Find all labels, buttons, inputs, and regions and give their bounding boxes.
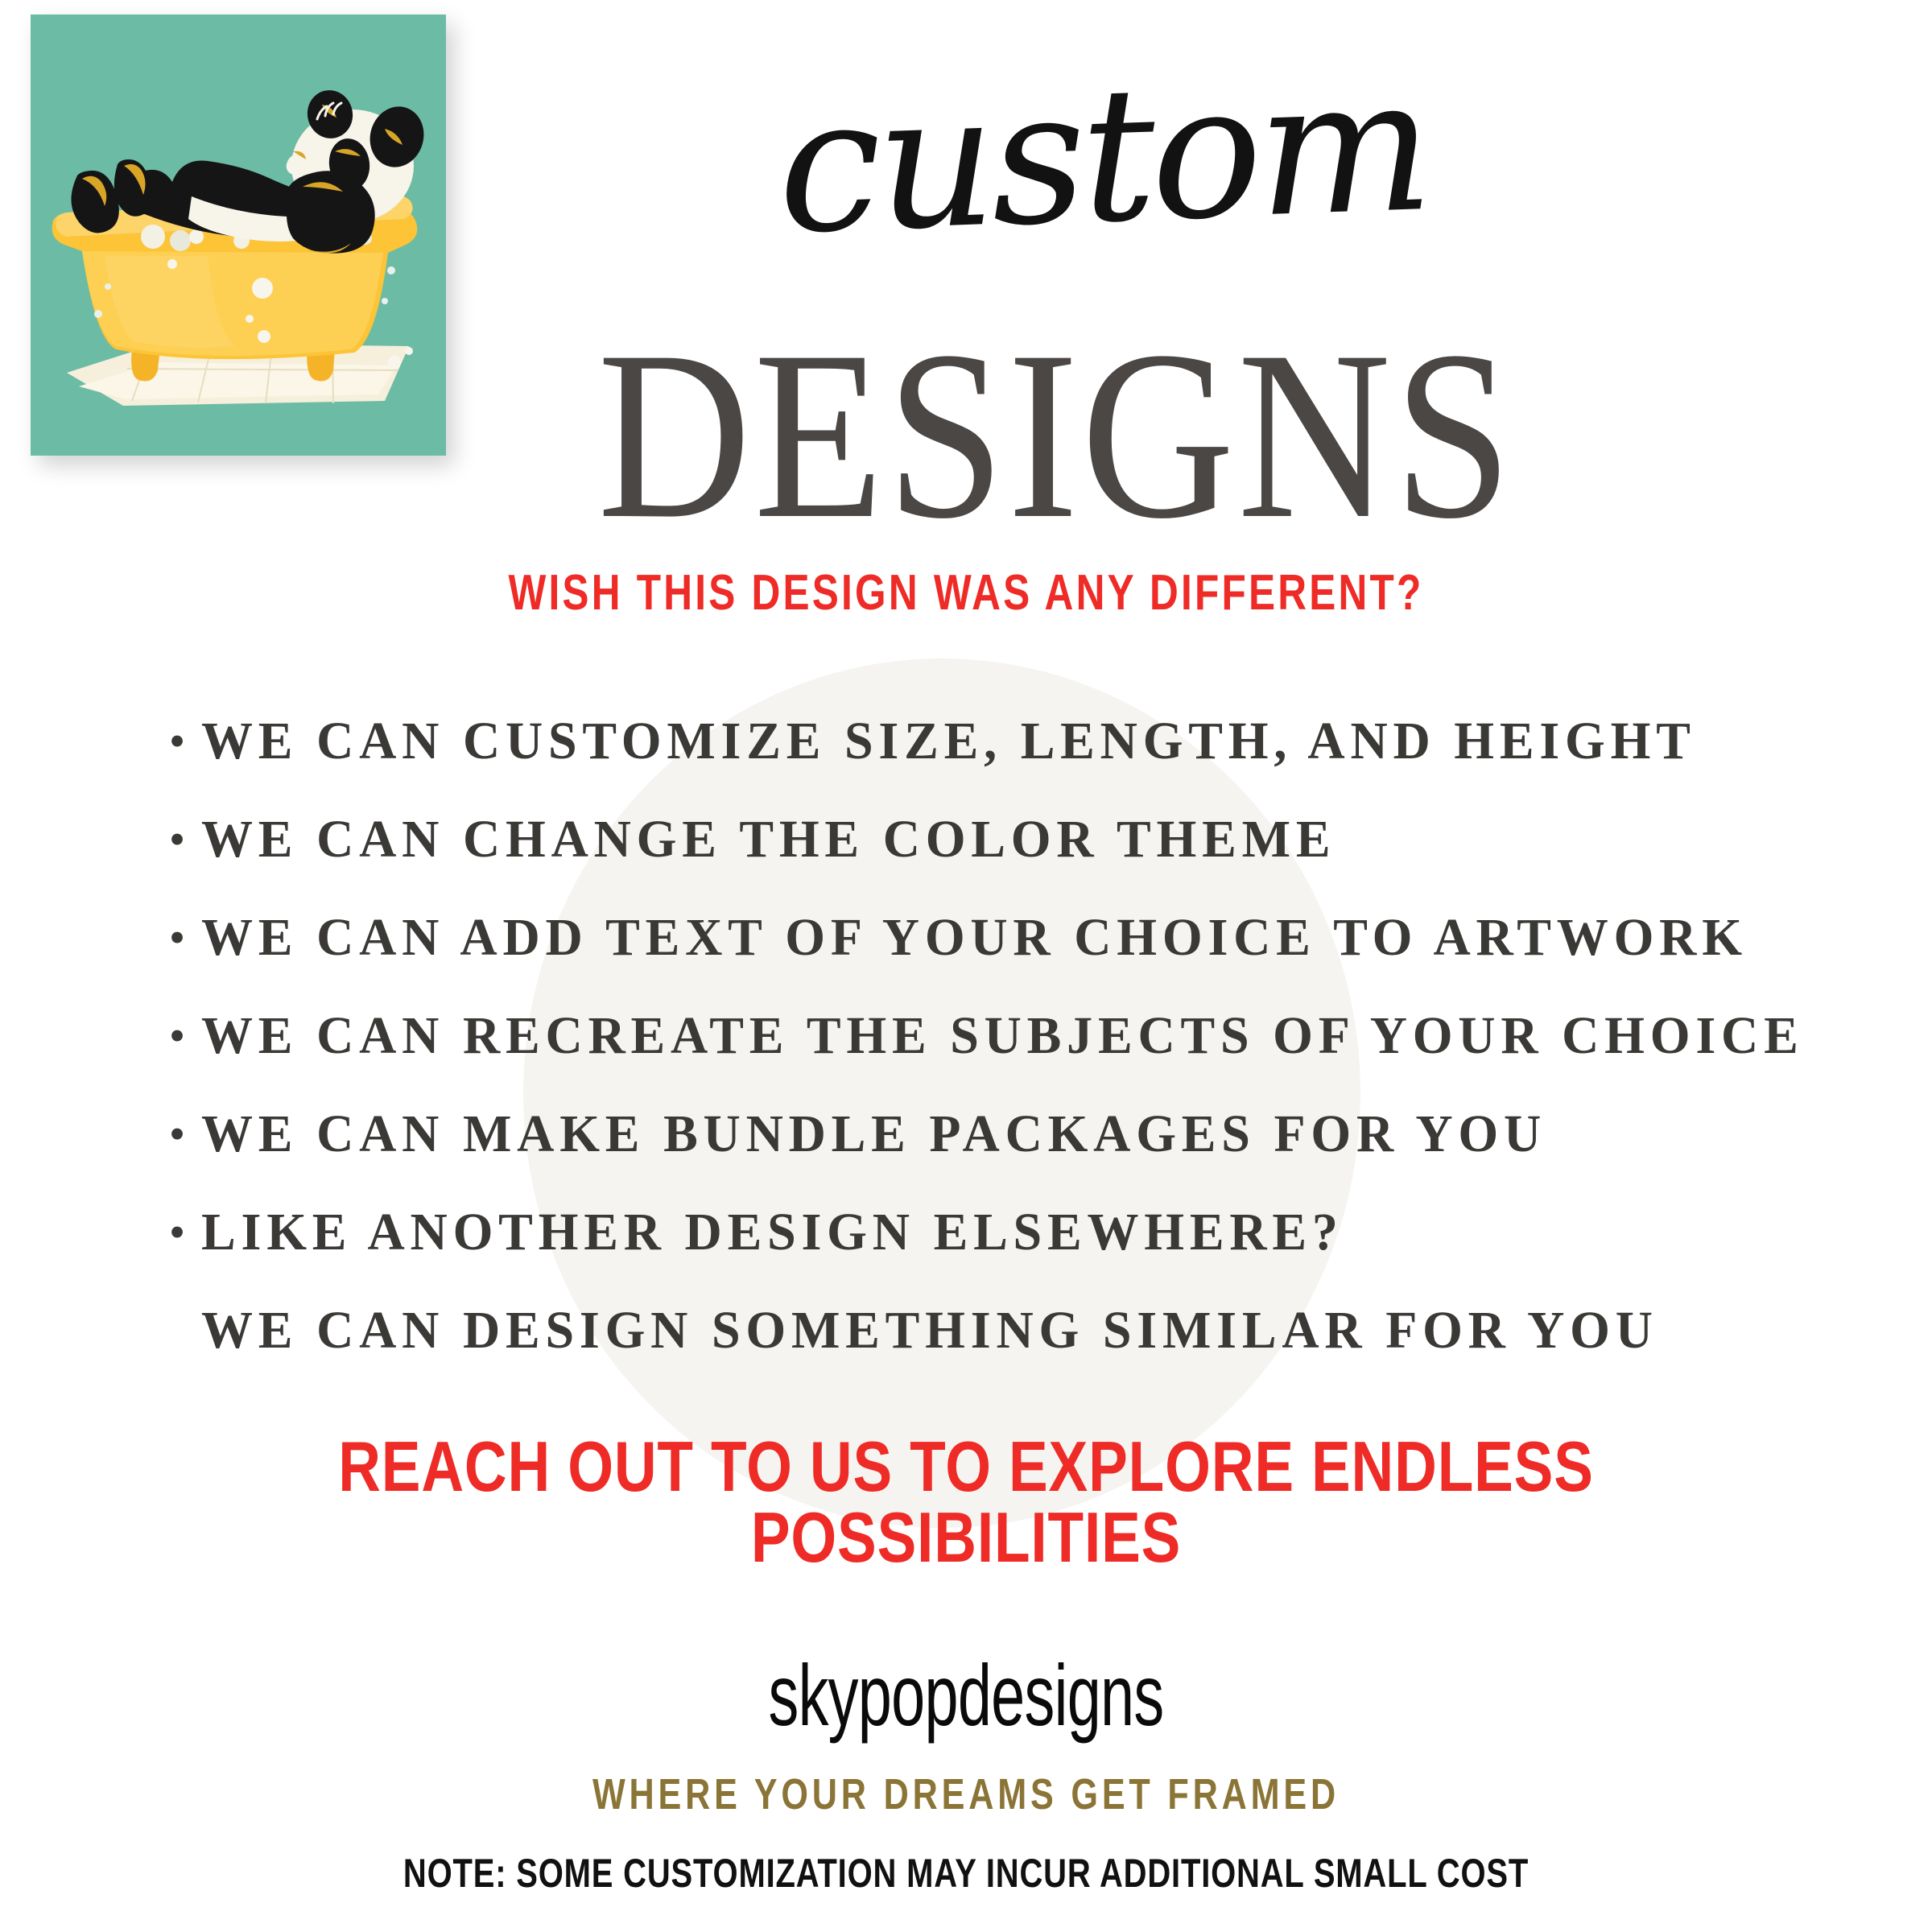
- call-to-action-text: REACH OUT TO US TO EXPLORE ENDLESS POSSI…: [164, 1431, 1768, 1573]
- brand-wordmark: skypopdesigns: [290, 1652, 1642, 1739]
- list-item: • LIKE ANOTHER DESIGN ELSEWHERE?: [153, 1183, 1843, 1282]
- bullet-dot-icon: •: [153, 692, 201, 791]
- bullet-dot-icon: •: [153, 889, 201, 987]
- bullet-label: WE CAN CHANGE THE COLOR THEME: [201, 791, 1335, 889]
- bullet-dot-icon: •: [153, 1183, 201, 1282]
- bullet-dot-icon: •: [153, 791, 201, 889]
- list-item: • WE CAN CUSTOMIZE SIZE, LENGTH, AND HEI…: [153, 692, 1843, 791]
- bullet-dot-icon: •: [153, 1085, 201, 1183]
- poster-canvas: custom DESIGNS WISH THIS DESIGN WAS ANY …: [0, 0, 1932, 1932]
- bullet-label: LIKE ANOTHER DESIGN ELSEWHERE?: [201, 1183, 1344, 1282]
- subtitle-question: WISH THIS DESIGN WAS ANY DIFFERENT?: [193, 568, 1739, 618]
- bullet-label: WE CAN ADD TEXT OF YOUR CHOICE TO ARTWOR…: [201, 889, 1748, 987]
- list-item: • WE CAN CHANGE THE COLOR THEME: [153, 791, 1843, 889]
- list-item: • WE CAN ADD TEXT OF YOUR CHOICE TO ARTW…: [153, 889, 1843, 987]
- list-item: • WE CAN RECREATE THE SUBJECTS OF YOUR C…: [153, 987, 1843, 1085]
- list-item: • WE CAN MAKE BUNDLE PACKAGES FOR YOU: [153, 1085, 1843, 1183]
- continuation-label: WE CAN DESIGN SOMETHING SIMILAR FOR YOU: [201, 1282, 1658, 1380]
- bullet-dot-icon: •: [153, 987, 201, 1085]
- bullet-label: WE CAN RECREATE THE SUBJECTS OF YOUR CHO…: [201, 987, 1804, 1085]
- list-item-continuation: WE CAN DESIGN SOMETHING SIMILAR FOR YOU: [153, 1282, 1843, 1380]
- feature-bullet-list: • WE CAN CUSTOMIZE SIZE, LENGTH, AND HEI…: [153, 692, 1843, 1380]
- bullet-label: WE CAN MAKE BUNDLE PACKAGES FOR YOU: [201, 1085, 1546, 1183]
- disclaimer-note: NOTE: SOME CUSTOMIZATION MAY INCUR ADDIT…: [193, 1853, 1739, 1893]
- page-title-designs: DESIGNS: [206, 314, 1906, 555]
- brand-tagline: WHERE YOUR DREAMS GET FRAMED: [193, 1773, 1739, 1816]
- bullet-label: WE CAN CUSTOMIZE SIZE, LENGTH, AND HEIGH…: [201, 692, 1696, 791]
